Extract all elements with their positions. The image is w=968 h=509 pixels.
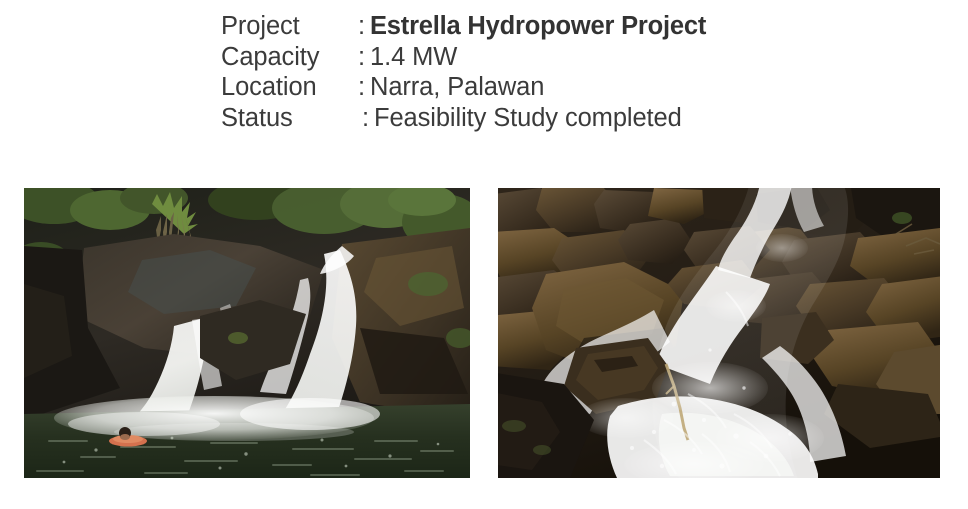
info-separator-project: : [358,11,370,42]
info-label-project: Project [221,11,358,42]
info-value-status: Feasibility Study completed [374,103,682,134]
info-row-location: Location : Narra, Palawan [221,72,921,103]
info-label-status: Status [221,103,358,134]
rapids-photo-graphic [498,188,940,478]
rapids-photo [498,188,940,478]
info-label-capacity: Capacity [221,42,358,73]
info-row-status: Status : Feasibility Study completed [221,103,921,134]
info-separator-status: : [358,103,374,134]
right-shrub [408,272,448,296]
foam-spread [114,423,354,441]
info-row-project: Project : Estrella Hydropower Project [221,11,921,42]
info-value-capacity: 1.4 MW [370,42,457,73]
info-value-location: Narra, Palawan [370,72,544,103]
info-separator-location: : [358,72,370,103]
info-label-location: Location [221,72,358,103]
info-value-project: Estrella Hydropower Project [370,11,706,42]
info-row-capacity: Capacity : 1.4 MW [221,42,921,73]
project-info-block: Project : Estrella Hydropower Project Ca… [221,11,921,133]
waterfall-photo [24,188,470,478]
waterfall-photo-graphic [24,188,470,478]
moss-patch [228,332,248,344]
upper-right-foliage [892,212,912,224]
info-separator-capacity: : [358,42,370,73]
